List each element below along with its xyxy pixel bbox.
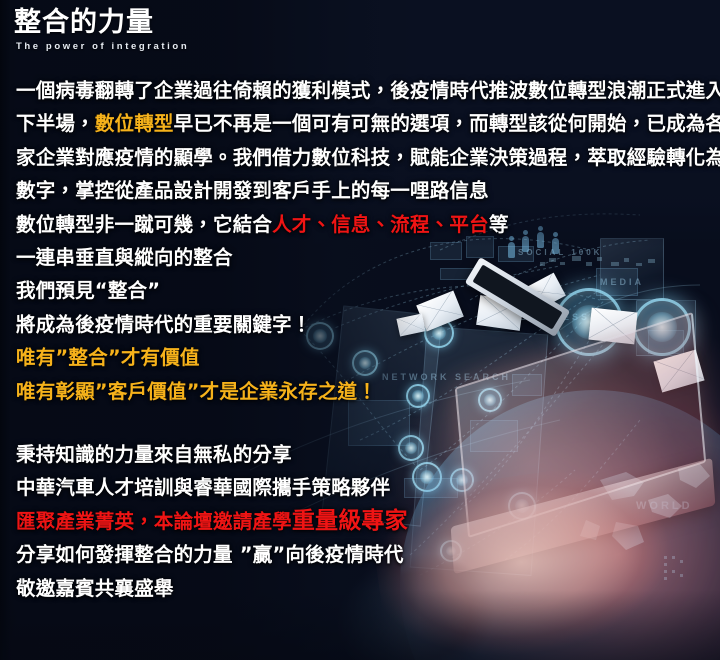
copy-run: 早已不再是一個可有可無的選項，而轉型該從何開始，已成為各: [174, 112, 720, 135]
copy-run: 重量級專家: [292, 508, 408, 534]
paragraph-block-one: 一個病毒翻轉了企業過往倚賴的獲利模式，後疫情時代推波數位轉型浪潮正式進入下半場，…: [16, 74, 716, 408]
copy-line: 我們預見“整合”: [16, 274, 716, 307]
copy-run: 一個病毒翻轉了企業過往倚賴的獲利模式，後疫情時代推波數位轉型浪潮正式進入: [16, 79, 720, 102]
copy-line: 中華汽車人才培訓與睿華國際攜手策略夥伴: [16, 471, 716, 504]
copy-run: 數字，掌控從產品設計開發到客戶手上的每一哩路信息: [16, 179, 489, 202]
copy-line: 下半場，數位轉型早已不再是一個可有可無的選項，而轉型該從何開始，已成為各: [16, 107, 716, 140]
copy-line: 數字，掌控從產品設計開發到客戶手上的每一哩路信息: [16, 174, 716, 207]
copy-line: 一連串垂直與縱向的整合: [16, 241, 716, 274]
copy-line: 唯有”整合”才有價值: [16, 341, 716, 374]
copy-line: 匯聚產業菁英，本論壇邀請產學重量級專家: [16, 505, 716, 538]
copy-run: 數位轉型非一蹴可幾，它結合: [16, 213, 272, 236]
copy-run: 將成為後疫情時代的重要關鍵字！: [16, 313, 312, 336]
copy-line: 家企業對應疫情的顯學。我們借力數位科技，賦能企業決策過程，萃取經驗轉化為: [16, 141, 716, 174]
copy-line: 唯有彰顯”客戶價值”才是企業永存之道！: [16, 375, 716, 408]
poster-canvas: BUSINESS NETWORK SEARCH MEDIA WORLD SOCI…: [0, 0, 720, 660]
copy-run: 匯聚產業菁英，本論壇邀請產學: [16, 510, 292, 533]
copy-run: 中華汽車人才培訓與睿華國際攜手策略夥伴: [16, 476, 390, 499]
copy-run: 等: [489, 213, 509, 236]
page-subtitle: The power of integration: [16, 41, 189, 52]
paragraph-gap: [16, 408, 716, 438]
copy-run: 敬邀嘉賓共襄盛舉: [16, 577, 174, 600]
copy-run: 我們預見“整合”: [16, 279, 160, 302]
paragraph-block-two: 秉持知識的力量來自無私的分享中華汽車人才培訓與睿華國際攜手策略夥伴匯聚產業菁英，…: [16, 438, 716, 605]
copy-run: 唯有彰顯”客戶價值”才是企業永存之道！: [16, 380, 377, 403]
page-title: 整合的力量: [14, 8, 189, 38]
poster-copy: 一個病毒翻轉了企業過往倚賴的獲利模式，後疫情時代推波數位轉型浪潮正式進入下半場，…: [16, 74, 716, 605]
copy-run: 下半場，: [16, 112, 95, 135]
copy-run: 秉持知識的力量來自無私的分享: [16, 443, 292, 466]
copy-run: 唯有”整合”才有價值: [16, 346, 200, 369]
copy-run: 一連串垂直與縱向的整合: [16, 246, 233, 269]
copy-line: 秉持知識的力量來自無私的分享: [16, 438, 716, 471]
copy-line: 分享如何發揮整合的力量 ”贏”向後疫情時代: [16, 538, 716, 571]
copy-line: 敬邀嘉賓共襄盛舉: [16, 572, 716, 605]
copy-line: 將成為後疫情時代的重要關鍵字！: [16, 308, 716, 341]
copy-line: 數位轉型非一蹴可幾，它結合人才、信息、流程、平台等: [16, 208, 716, 241]
copy-run: 家企業對應疫情的顯學。我們借力數位科技，賦能企業決策過程，萃取經驗轉化為: [16, 146, 720, 169]
copy-run: 人才、信息、流程、平台: [272, 213, 489, 236]
copy-run: 數位轉型: [95, 112, 174, 135]
copy-run: 分享如何發揮整合的力量 ”贏”向後疫情時代: [16, 543, 404, 566]
background-left-edge: [0, 0, 16, 660]
poster-header: 整合的力量 The power of integration: [14, 8, 189, 52]
copy-line: 一個病毒翻轉了企業過往倚賴的獲利模式，後疫情時代推波數位轉型浪潮正式進入: [16, 74, 716, 107]
